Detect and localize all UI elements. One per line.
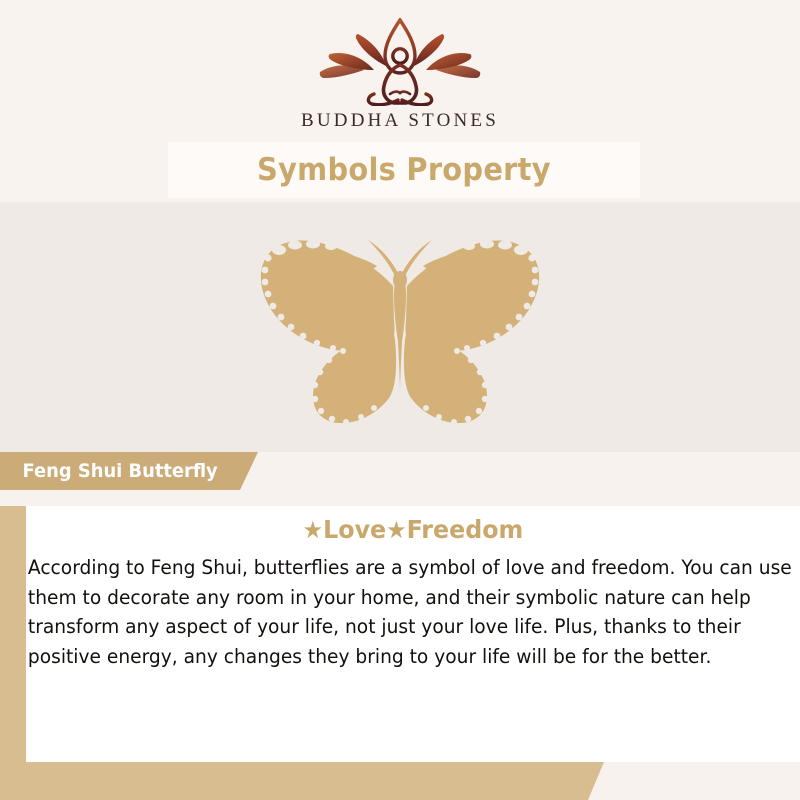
title-band: Symbols Property [168, 142, 640, 198]
brand-name: BUDDHA STONES [301, 110, 499, 132]
page-title: Symbols Property [257, 152, 551, 188]
content-card: ★Love★Freedom According to Feng Shui, bu… [26, 506, 800, 762]
section-ribbon: Feng Shui Butterfly [0, 452, 258, 490]
star-icon-middle: ★ [386, 516, 406, 544]
butterfly-icon [225, 220, 575, 435]
ribbon-label: Feng Shui Butterfly [0, 460, 218, 482]
body-paragraph: According to Feng Shui, butterflies are … [26, 553, 795, 671]
brand-logo: BUDDHA STONES [0, 18, 800, 132]
hero-panel [0, 202, 800, 452]
decorative-band-bottom [0, 762, 604, 800]
content-subheading: ★Love★Freedom [45, 515, 780, 544]
star-icon-left: ★ [303, 516, 323, 544]
lotus-meditation-figure-icon [314, 18, 486, 106]
subheading-word-freedom: Freedom [407, 515, 524, 544]
ribbon-gap [0, 490, 800, 506]
subheading-word-love: Love [323, 515, 386, 544]
